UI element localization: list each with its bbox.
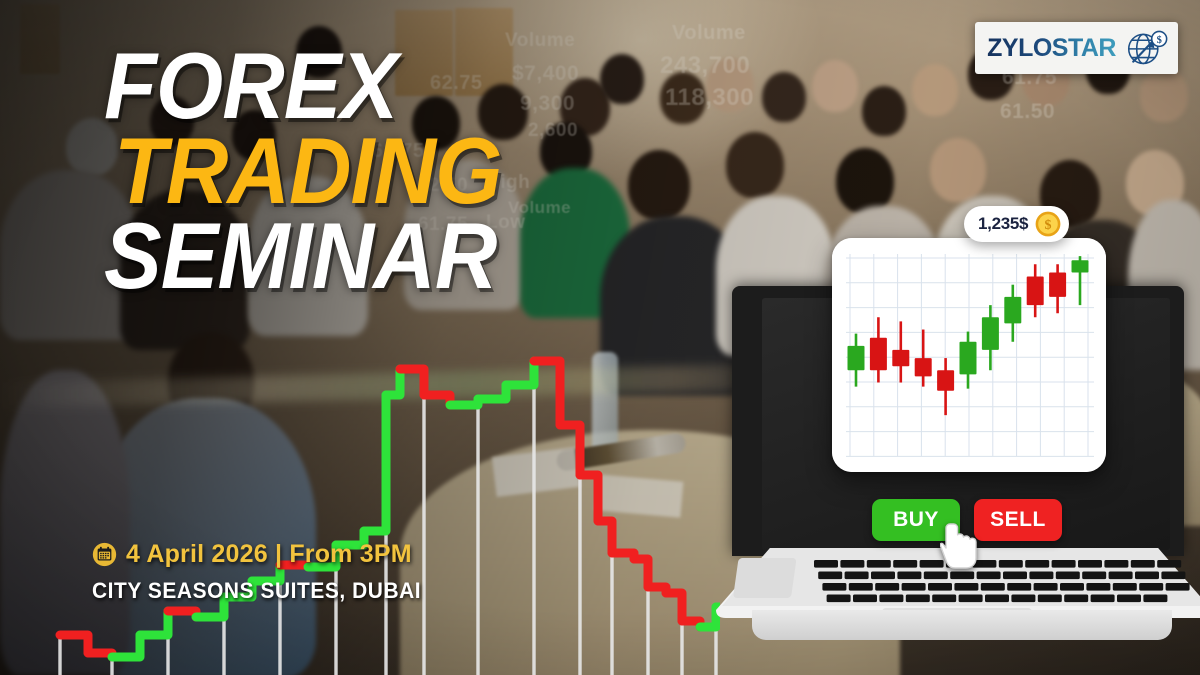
keyboard-key xyxy=(827,595,851,603)
keyboard-key xyxy=(902,583,926,591)
keyboard-key xyxy=(1064,595,1088,603)
keyboard-key xyxy=(1011,595,1035,603)
title-line-seminar: SEMINAR xyxy=(104,216,501,297)
keyboard-key xyxy=(1034,583,1058,591)
keyboard-key xyxy=(1091,595,1115,603)
price-line-segment xyxy=(506,361,534,385)
candle-body xyxy=(892,350,909,366)
keyboard-key xyxy=(985,595,1009,603)
price-value: 1,235$ xyxy=(978,214,1028,234)
keyboard-key xyxy=(1060,583,1084,591)
keyboard-key xyxy=(1029,572,1053,580)
keyboard-key xyxy=(814,560,838,568)
price-line-segment xyxy=(580,475,598,521)
keyboard-key xyxy=(977,572,1001,580)
keyboard-key xyxy=(981,583,1005,591)
keyboard-key xyxy=(1056,572,1080,580)
keyboard-key xyxy=(1078,560,1102,568)
price-line-segment xyxy=(634,559,648,587)
event-venue-text: CITY SEASONS SUITES, DUBAI xyxy=(92,578,421,604)
candle-body xyxy=(870,338,887,371)
keyboard-key xyxy=(840,560,864,568)
candle-body xyxy=(848,346,865,370)
keyboard-key xyxy=(1052,560,1076,568)
candle-body xyxy=(982,317,999,350)
laptop-base-bottom xyxy=(752,610,1172,640)
candle-body xyxy=(1049,272,1066,296)
poster-canvas: Volume$7,4009,3002,600Volume243,700118,3… xyxy=(0,0,1200,675)
brand-logo[interactable]: ZYLOSTAR $ xyxy=(975,22,1178,74)
keyboard-key xyxy=(928,583,952,591)
keyboard-key xyxy=(1166,583,1190,591)
keyboard-key xyxy=(1082,572,1106,580)
keyboard-key xyxy=(1161,572,1185,580)
candle-body xyxy=(960,342,977,375)
trading-chart-card xyxy=(832,238,1106,472)
keyboard-key xyxy=(893,560,917,568)
keyboard-key xyxy=(875,583,899,591)
keyboard-key xyxy=(950,572,974,580)
keyboard-key xyxy=(959,595,983,603)
keyboard-key xyxy=(871,572,895,580)
keyboard-key xyxy=(906,595,930,603)
overlay-line-chart xyxy=(0,335,720,675)
keyboard-key xyxy=(845,572,869,580)
price-line-segment xyxy=(140,611,168,635)
keyboard-key xyxy=(1109,572,1133,580)
page-title: FOREX TRADING SEMINAR xyxy=(104,46,535,296)
keyboard-key xyxy=(999,560,1023,568)
price-line-segment xyxy=(364,395,386,531)
keyboard-key xyxy=(849,583,873,591)
title-line-forex: FOREX xyxy=(104,46,501,127)
sell-button[interactable]: SELL xyxy=(974,499,1062,541)
keyboard-key xyxy=(1104,560,1128,568)
keyboard-key xyxy=(897,572,921,580)
candle-body xyxy=(1004,297,1021,324)
keyboard-key xyxy=(1025,560,1049,568)
price-line-segment xyxy=(478,385,506,399)
candle-body xyxy=(1072,260,1089,272)
gold-dollar-coin-icon: $ xyxy=(1035,211,1061,237)
price-line-segment xyxy=(60,635,88,653)
event-date-row: 4 April 2026 | From 3PM xyxy=(92,540,438,569)
keyboard-key xyxy=(818,572,842,580)
keyboard-key xyxy=(853,595,877,603)
keyboard-key xyxy=(1135,572,1159,580)
globe-arrow-dollar-icon: $ xyxy=(1124,28,1168,68)
price-badge: 1,235$ $ xyxy=(964,206,1069,242)
keyboard-key xyxy=(1157,560,1181,568)
brand-name: ZYLOSTAR xyxy=(987,34,1116,63)
keyboard-key xyxy=(867,560,891,568)
price-line-segment xyxy=(560,425,580,475)
keyboard-key xyxy=(1007,583,1031,591)
keyboard-key xyxy=(822,583,846,591)
svg-text:$: $ xyxy=(1045,218,1052,233)
event-details: 4 April 2026 | From 3PM CITY SEASONS SUI… xyxy=(92,540,438,604)
event-date-text: 4 April 2026 | From 3PM xyxy=(126,540,412,569)
candlestick-chart xyxy=(832,238,1106,472)
price-line-segment xyxy=(112,635,140,657)
keyboard-key xyxy=(932,595,956,603)
keyboard-key xyxy=(879,595,903,603)
price-line-segment xyxy=(598,521,612,553)
svg-text:$: $ xyxy=(1157,35,1162,46)
keyboard-key xyxy=(1139,583,1163,591)
keyboard-key xyxy=(954,583,978,591)
keyboard-key xyxy=(1131,560,1155,568)
candle-body xyxy=(937,370,954,390)
calendar-icon xyxy=(92,542,117,567)
keyboard-key xyxy=(1038,595,1062,603)
price-line-segment xyxy=(666,593,682,621)
keyboard-key xyxy=(1086,583,1110,591)
keyboard-key xyxy=(1117,595,1141,603)
keyboard-key xyxy=(1003,572,1027,580)
keyboard-key xyxy=(924,572,948,580)
title-line-trading: TRADING xyxy=(114,131,501,212)
keyboard-key xyxy=(1143,595,1167,603)
pointer-hand-cursor-icon xyxy=(940,522,980,570)
candle-body xyxy=(1027,277,1044,306)
candle-body xyxy=(915,358,932,376)
keyboard-key xyxy=(1113,583,1137,591)
